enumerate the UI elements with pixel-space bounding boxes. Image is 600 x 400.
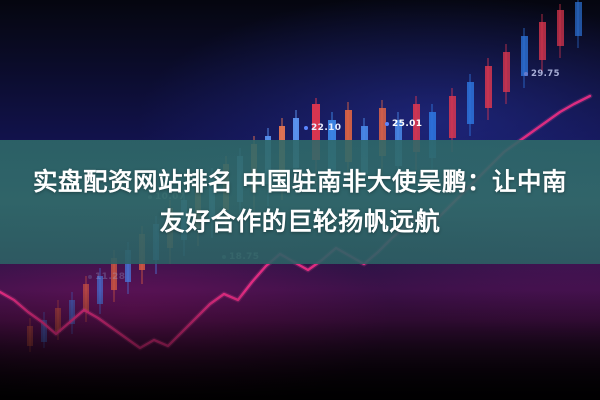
headline-line-1: 实盘配资网站排名 中国驻南非大使吴鹏：让中南: [33, 165, 567, 199]
marker-dot-icon: [88, 275, 92, 279]
headline-line-2: 友好合作的巨轮扬帆远航: [160, 205, 441, 239]
marker-dot-icon: [304, 126, 308, 130]
price-label-29-75: 29.75: [524, 69, 560, 80]
price-label-11-28: 11.28: [88, 272, 125, 283]
headline-block: 实盘配资网站排名 中国驻南非大使吴鹏：让中南 友好合作的巨轮扬帆远航: [0, 140, 600, 264]
price-label-25-01: 25.01: [385, 119, 422, 130]
price-label-22-10: 22.10: [304, 123, 341, 134]
marker-dot-icon: [524, 72, 528, 76]
marker-dot-icon: [385, 122, 389, 126]
promo-banner: 22.10 25.01 29.75 10.07 18.75 11.28 实盘配资…: [0, 0, 600, 400]
